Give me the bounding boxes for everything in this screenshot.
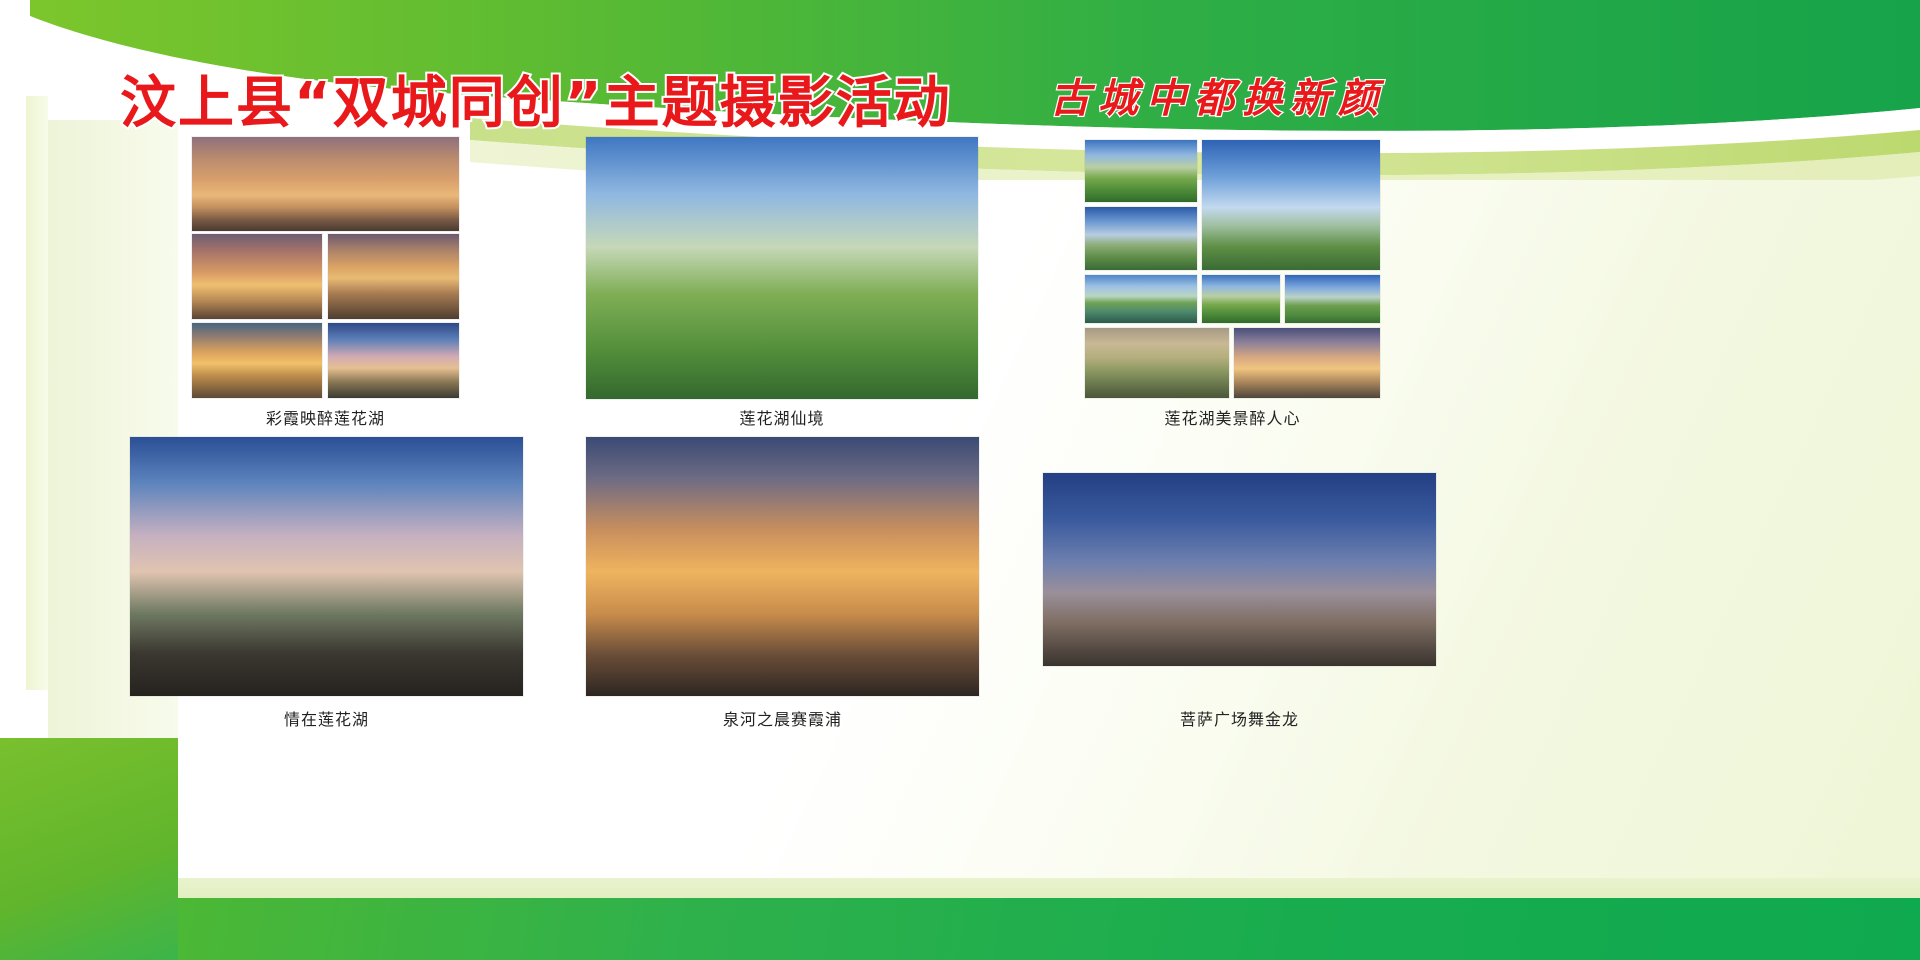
caption-5: 泉河之晨赛霞浦 xyxy=(586,706,979,730)
photo-stone-balustrade-dusk[interactable] xyxy=(328,323,459,398)
caption-2: 莲花湖仙境 xyxy=(586,405,978,429)
photo-cyclists-on-bridge[interactable] xyxy=(130,437,523,696)
photo-waterwheels-sunrise[interactable] xyxy=(1085,328,1229,398)
photo-quanhe-river-sunrise-pagoda[interactable] xyxy=(586,437,979,696)
photo-red-lotus-sculpture-plaza[interactable] xyxy=(1202,140,1380,270)
photo-lake-reflection-temple[interactable] xyxy=(1085,275,1197,323)
photo-pusa-square-night-temple[interactable] xyxy=(1043,473,1436,666)
caption-3: 莲花湖美景醉人心 xyxy=(1085,405,1380,429)
page-subtitle: 古城中都换新颜 xyxy=(1050,66,1386,124)
photo-exhibition-board: 汶上县“双城同创”主题摄影活动 古城中都换新颜 彩霞映醉莲花湖 莲花湖仙境 xyxy=(0,0,1920,960)
photo-cyclists-silhouette-sunset[interactable] xyxy=(192,323,322,398)
photo-lake-sunset-panorama[interactable] xyxy=(192,137,459,231)
caption-1: 彩霞映醉莲花湖 xyxy=(192,405,459,429)
photo-lotus-field-dusk[interactable] xyxy=(192,234,322,319)
photo-lotus-lake-pavilion-wide[interactable] xyxy=(586,137,978,399)
gallery: 彩霞映醉莲花湖 莲花湖仙境 莲花湖美景醉人心 情在莲花湖 泉河之 xyxy=(0,0,1920,960)
caption-4: 情在莲花湖 xyxy=(130,706,523,730)
photo-lotus-pond-village[interactable] xyxy=(1085,140,1197,202)
photo-wooden-pavilion-clouds[interactable] xyxy=(1085,207,1197,270)
photo-park-sunset-lamp[interactable] xyxy=(1234,328,1380,398)
caption-6: 菩萨广场舞金龙 xyxy=(1043,706,1436,730)
photo-lotus-sculpture-sunset[interactable] xyxy=(328,234,459,319)
photo-lotus-leaves-boardwalk[interactable] xyxy=(1202,275,1280,323)
photo-rockery-garden-plaza[interactable] xyxy=(1285,275,1380,323)
page-title: 汶上县“双城同创”主题摄影活动 xyxy=(120,58,952,139)
